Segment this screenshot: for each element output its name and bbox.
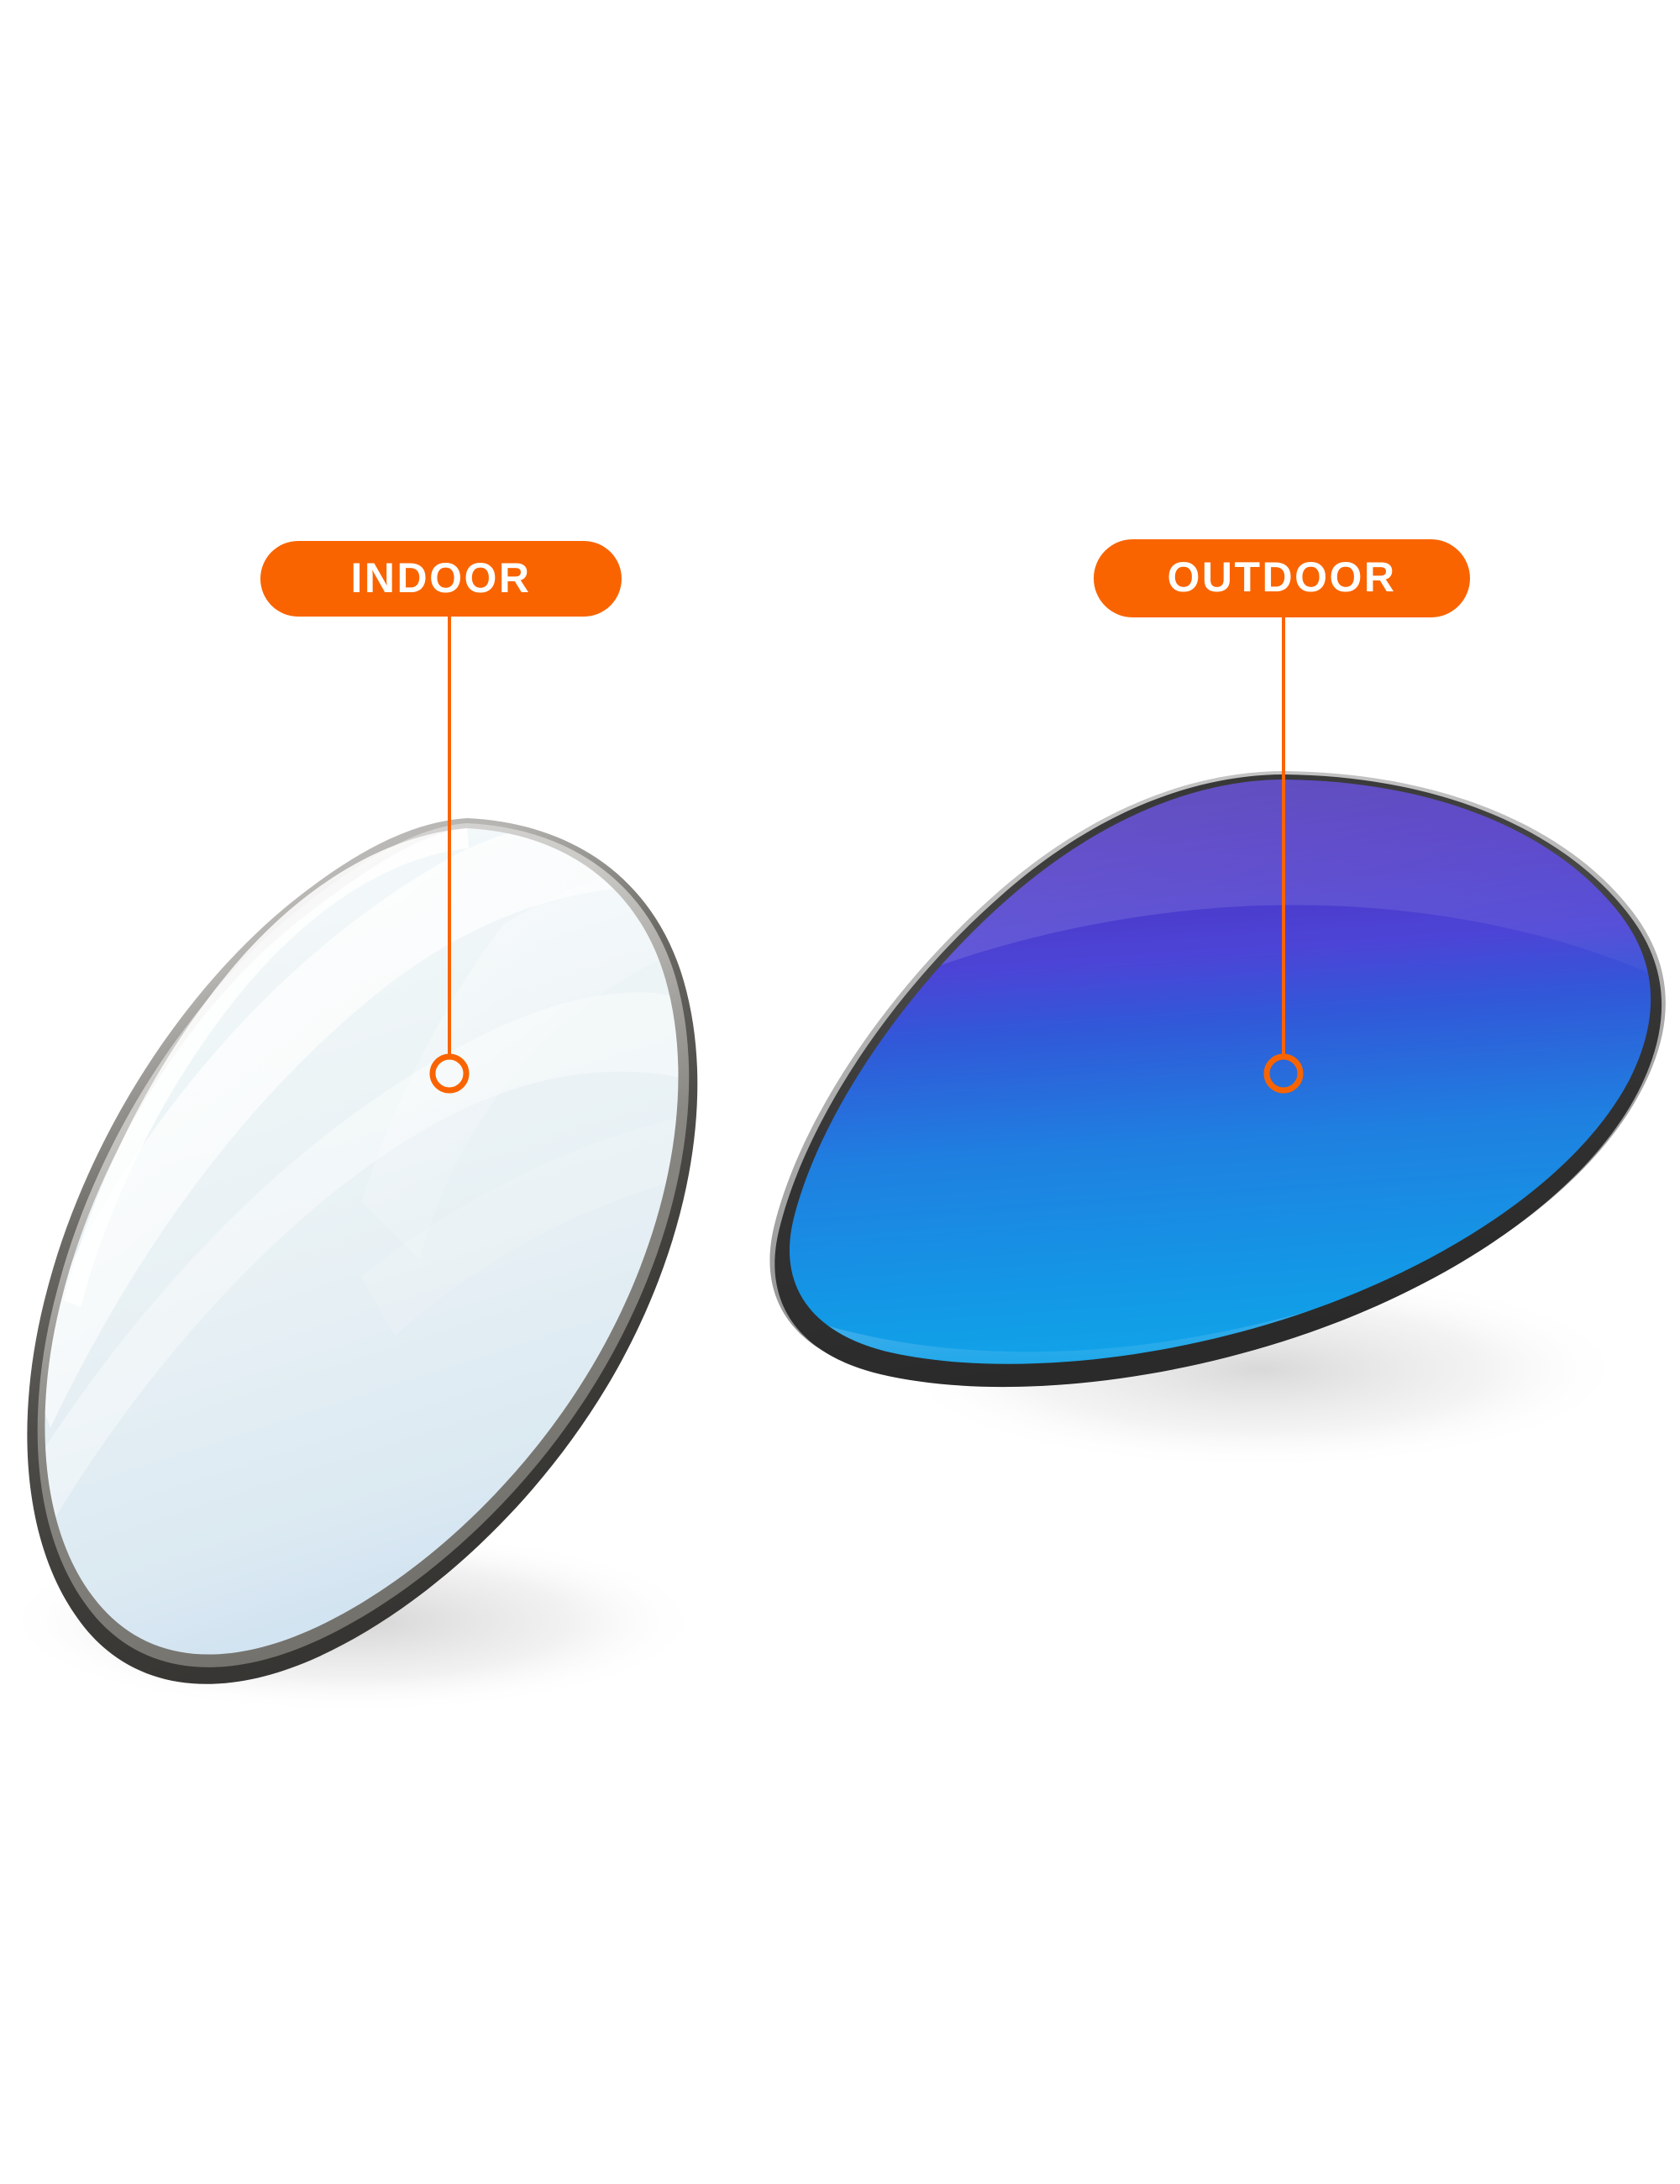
indoor-callout-badge[interactable]: INDOOR	[260, 541, 622, 617]
outdoor-callout-badge[interactable]: OUTDOOR	[1094, 539, 1470, 617]
indoor-callout-label: INDOOR	[351, 557, 532, 599]
outdoor-callout-label: OUTDOOR	[1167, 556, 1396, 598]
lens-comparison-illustration	[0, 0, 1680, 2184]
illustration-canvas: INDOOR OUTDOOR	[0, 0, 1680, 2184]
